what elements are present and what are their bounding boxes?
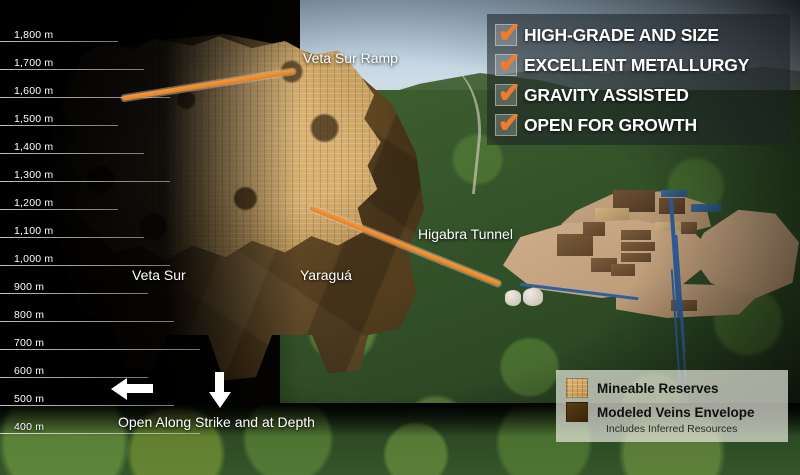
elevation-tick-rule: [0, 405, 174, 406]
elevation-tick-rule: [0, 69, 144, 70]
warehouse-b: [621, 242, 655, 251]
elevation-tick-label: 1,200 m: [14, 197, 53, 209]
mine-surface-facility: [495, 178, 800, 318]
legend-label-reserves: Mineable Reserves: [597, 381, 719, 396]
open-depth-arrow-tail: [215, 372, 224, 394]
warehouse-a: [621, 230, 651, 240]
feature-item: ✔OPEN FOR GROWTH: [495, 110, 786, 140]
open-strike-depth-caption: Open Along Strike and at Depth: [118, 414, 315, 430]
feature-item: ✔GRAVITY ASSISTED: [495, 80, 786, 110]
open-depth-arrow-head: [209, 392, 231, 408]
elevation-tick-rule: [0, 321, 174, 322]
yaragua-label: Yaraguá: [300, 267, 352, 283]
maintenance-shop: [611, 264, 635, 276]
feature-item-label: OPEN FOR GROWTH: [524, 115, 697, 136]
veta-sur-label: Veta Sur: [132, 267, 186, 283]
check-icon: ✔: [498, 80, 521, 107]
elevation-tick-label: 1,800 m: [14, 29, 53, 41]
blue-roof-shed: [661, 190, 687, 197]
elevation-tick-label: 1,700 m: [14, 57, 53, 69]
feature-item-label: HIGH-GRADE AND SIZE: [524, 25, 719, 46]
checkbox-icon: ✔: [495, 54, 517, 76]
conveyor-structure: [595, 208, 629, 220]
open-strike-arrow-tail: [127, 384, 153, 393]
elevation-tick-rule: [0, 293, 148, 294]
higabra-tunnel-label: Higabra Tunnel: [418, 226, 513, 242]
checkbox-icon: ✔: [495, 24, 517, 46]
elevation-tick-label: 500 m: [14, 393, 44, 405]
elevation-tick-label: 800 m: [14, 309, 44, 321]
check-icon: ✔: [498, 50, 521, 77]
elevation-tick-rule: [0, 125, 118, 126]
mine-section-graphic: 1,800 m1,700 m1,600 m1,500 m1,400 m1,300…: [0, 0, 800, 475]
elevation-tick-label: 1,500 m: [14, 113, 53, 125]
elevation-tick-label: 1,300 m: [14, 169, 53, 181]
elevation-tick-rule: [0, 209, 118, 210]
checkbox-icon: ✔: [495, 114, 517, 136]
elevation-tick-rule: [0, 349, 200, 350]
feature-item-label: GRAVITY ASSISTED: [524, 85, 689, 106]
blue-roof-shed-2: [691, 204, 721, 212]
veta-sur-ramp-label: Veta Sur Ramp: [303, 50, 398, 66]
legend-label-envelope: Modeled Veins Envelope: [597, 405, 755, 420]
elevation-tick-label: 1,000 m: [14, 253, 53, 265]
legend-sublabel-inferred: Includes Inferred Resources: [606, 423, 778, 435]
feature-item: ✔HIGH-GRADE AND SIZE: [495, 20, 786, 50]
check-icon: ✔: [498, 110, 521, 137]
elevation-tick-label: 1,100 m: [14, 225, 53, 237]
legend-item-reserves: Mineable Reserves: [566, 378, 778, 398]
legend-swatch-envelope: [566, 402, 588, 422]
elevation-tick-label: 1,400 m: [14, 141, 53, 153]
water-tank-a: [505, 290, 521, 306]
check-icon: ✔: [498, 20, 521, 47]
elevation-tick-rule: [0, 153, 144, 154]
lower-shed: [671, 300, 697, 311]
elevation-tick-label: 900 m: [14, 281, 44, 293]
feature-highlights-panel: ✔HIGH-GRADE AND SIZE✔EXCELLENT METALLURG…: [487, 14, 790, 145]
legend-item-envelope: Modeled Veins Envelope: [566, 402, 778, 422]
elevation-tick-rule: [0, 237, 144, 238]
feature-item-label: EXCELLENT METALLURGY: [524, 55, 749, 76]
elevation-tick-rule: [0, 41, 118, 42]
legend-swatch-reserves: [566, 378, 588, 398]
elevation-scale: 1,800 m1,700 m1,600 m1,500 m1,400 m1,300…: [0, 0, 300, 475]
mill-building: [583, 222, 605, 236]
checkbox-icon: ✔: [495, 84, 517, 106]
warehouse-c: [621, 253, 651, 262]
power-house: [681, 222, 697, 234]
elevation-tick-label: 400 m: [14, 421, 44, 433]
elevation-tick-rule: [0, 181, 170, 182]
elevation-tick-label: 1,600 m: [14, 85, 53, 97]
elevation-tick-rule: [0, 433, 200, 434]
feature-item: ✔EXCELLENT METALLURGY: [495, 50, 786, 80]
elevation-tick-label: 700 m: [14, 337, 44, 349]
legend-panel: Mineable Reserves Modeled Veins Envelope…: [556, 370, 788, 442]
process-building: [557, 234, 593, 256]
elevation-tick-label: 600 m: [14, 365, 44, 377]
water-tank-b: [523, 288, 543, 306]
elevation-tick-rule: [0, 265, 170, 266]
open-strike-arrow-head: [111, 378, 127, 400]
